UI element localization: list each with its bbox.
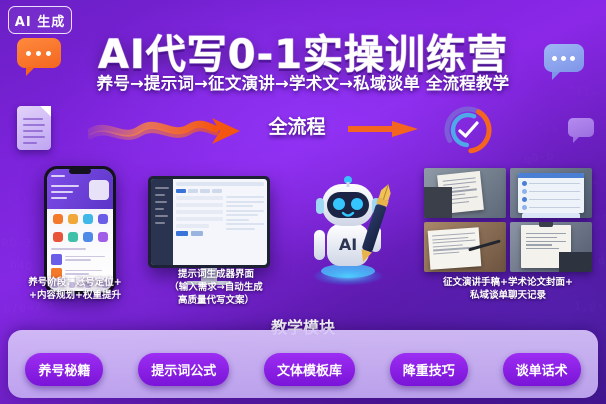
- photo-speech-manuscript: [424, 168, 506, 218]
- phone-caption-line1: 养号阶段：账号定位+: [0, 276, 150, 289]
- phone-notch: [69, 168, 91, 174]
- progress-check-ring-icon: [440, 102, 496, 158]
- module-pill-reduce-duplication[interactable]: 降重技巧: [390, 353, 468, 386]
- phone-banner-card: [89, 180, 109, 200]
- module-pill-prompt-formula[interactable]: 提示词公式: [138, 353, 229, 386]
- photos-caption-line1: 征文演讲手稿+学术论文封面+: [410, 276, 606, 289]
- list-item: [51, 254, 109, 265]
- monitor-main-area: [173, 179, 267, 265]
- monitor-screen: [151, 179, 267, 265]
- phone-screen: [47, 169, 113, 291]
- photo-chat-record: [510, 168, 592, 218]
- monitor-caption: 提示词生成器界面 （输入需求→自动生成 高质量代写文案）: [146, 268, 286, 307]
- photo-clipboard-laptop: [510, 222, 592, 272]
- photo-grid: [424, 168, 592, 272]
- phone-icon-grid-row2: [47, 227, 113, 245]
- wavy-orange-arrow-icon: [88, 112, 248, 146]
- monitor-caption-line1: 提示词生成器界面: [146, 268, 286, 281]
- robot-chest-label: AI: [339, 235, 357, 254]
- monitor-caption-line3: 高质量代写文案）: [146, 294, 286, 307]
- phone-caption-line2: +内容规划+权重提升: [0, 289, 150, 302]
- phone-banner: [47, 169, 113, 209]
- orange-arrow-icon: [348, 120, 420, 138]
- module-pill-sales-script[interactable]: 谈单话术: [503, 353, 581, 386]
- photos-caption: 征文演讲手稿+学术论文封面+ 私域谈单聊天记录: [410, 276, 606, 302]
- monitor-caption-line2: （输入需求→自动生成: [146, 281, 286, 294]
- page-subtitle: 养号→提示词→征文演讲→学术文→私域谈单 全流程教学: [0, 70, 606, 94]
- photos-caption-line2: 私域谈单聊天记录: [410, 289, 606, 302]
- module-pill-yanghao[interactable]: 养号秘籍: [25, 353, 103, 386]
- module-pill-template-library[interactable]: 文体模板库: [264, 353, 355, 386]
- phone-mockup: [44, 166, 116, 294]
- photo-clipboard-paper: [424, 222, 506, 272]
- flow-label: 全流程: [252, 112, 342, 139]
- ai-robot-mascot-icon: AI: [296, 168, 400, 286]
- phone-caption: 养号阶段：账号定位+ +内容规划+权重提升: [0, 276, 150, 302]
- poster-canvas: {/)-°°-0//RO-2 °b4Q{-cosdQ )-cD/0=7.L{-)…: [0, 0, 606, 404]
- monitor-mockup: [148, 176, 270, 268]
- phone-icon-grid: [47, 209, 113, 227]
- monitor-sidebar: [151, 179, 173, 265]
- modules-pill-list: 养号秘籍 提示词公式 文体模板库 降重技巧 谈单话术: [8, 353, 598, 386]
- purple-chat-bubble-icon: [568, 118, 594, 137]
- document-icon: [17, 106, 51, 150]
